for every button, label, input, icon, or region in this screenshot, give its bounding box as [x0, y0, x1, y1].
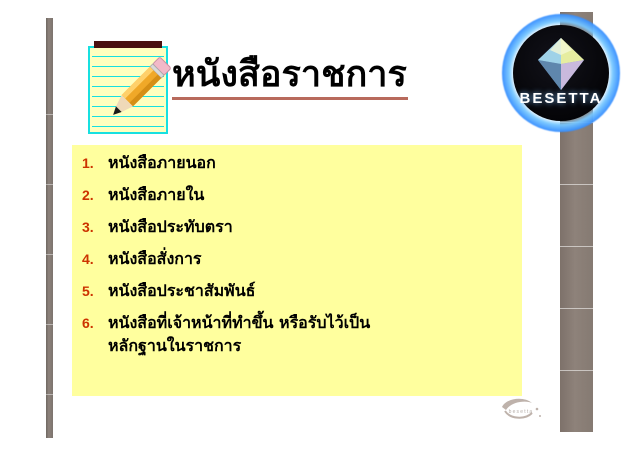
list-item-text: หนังสือภายใน	[108, 183, 204, 206]
list-item-number: 2.	[82, 183, 108, 206]
list-item-number: 3.	[82, 215, 108, 238]
slide-canvas: หนังสือราชการ BESETTA 1. หนังสือภายนอก	[0, 0, 638, 452]
list-item-line1: หนังสือภายใน	[108, 185, 204, 204]
list-item-line1: หนังสือประชาสัมพันธ์	[108, 281, 255, 300]
logo-brand-text: BESETTA	[502, 90, 620, 107]
list-item-text: หนังสือสั่งการ	[108, 247, 202, 270]
list-item-number: 6.	[82, 311, 108, 334]
list-item: 6. หนังสือที่เจ้าหน้าที่ทำขึ้น หรือรับไว…	[82, 311, 516, 357]
list-item-number: 4.	[82, 247, 108, 270]
list-item-line1: หนังสือประทับตรา	[108, 217, 233, 236]
diamond-gem-icon	[538, 38, 584, 90]
list-item-line2: หลักฐานในราชการ	[108, 334, 370, 357]
list-item-number: 1.	[82, 151, 108, 174]
list-item: 5. หนังสือประชาสัมพันธ์	[82, 279, 516, 302]
notepad-icon	[88, 36, 170, 136]
list-item-text: หนังสือประชาสัมพันธ์	[108, 279, 255, 302]
list-item-text: หนังสือภายนอก	[108, 151, 216, 174]
list-item-text: หนังสือที่เจ้าหน้าที่ทำขึ้น หรือรับไว้เป…	[108, 311, 370, 357]
corner-watermark-logo: besetta	[492, 394, 550, 426]
list-item: 1. หนังสือภายนอก	[82, 151, 516, 174]
besetta-logo: BESETTA	[502, 14, 620, 132]
content-panel: 1. หนังสือภายนอก 2. หนังสือภายใน 3. หนัง…	[72, 145, 522, 396]
list-item-number: 5.	[82, 279, 108, 302]
list-item-line1: หนังสือที่เจ้าหน้าที่ทำขึ้น หรือรับไว้เป…	[108, 313, 370, 332]
list-item-text: หนังสือประทับตรา	[108, 215, 233, 238]
list-item: 3. หนังสือประทับตรา	[82, 215, 516, 238]
list-item: 4. หนังสือสั่งการ	[82, 247, 516, 270]
watermark-label: besetta	[492, 409, 550, 415]
page-title: หนังสือราชการ	[172, 56, 502, 100]
left-decorative-bar	[46, 18, 53, 438]
pencil-icon	[100, 48, 180, 128]
document-type-list: 1. หนังสือภายนอก 2. หนังสือภายใน 3. หนัง…	[82, 151, 516, 366]
notepad-binder	[94, 41, 162, 48]
list-item: 2. หนังสือภายใน	[82, 183, 516, 206]
list-item-line1: หนังสือภายนอก	[108, 153, 216, 172]
title-underline	[172, 97, 408, 100]
list-item-line1: หนังสือสั่งการ	[108, 249, 202, 268]
page-title-text: หนังสือราชการ	[172, 56, 502, 94]
